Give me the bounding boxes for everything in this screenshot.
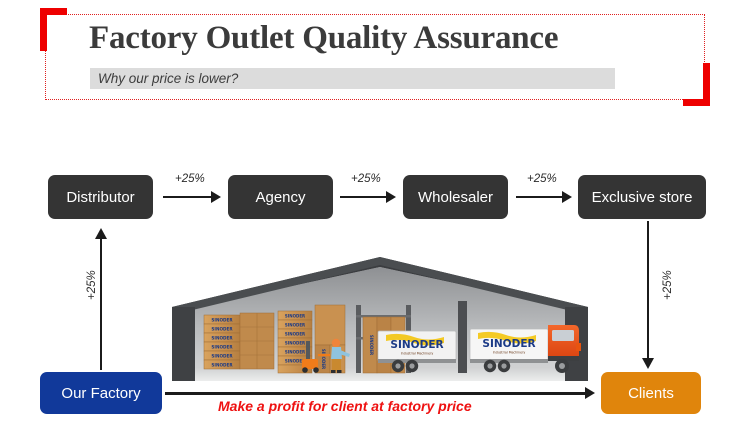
svg-text:SINODER: SINODER xyxy=(482,338,535,350)
svg-text:SINODER: SINODER xyxy=(285,332,305,337)
arrow-distributor-to-agency xyxy=(163,191,221,203)
markup-wholesaler-to-exclusive: +25% xyxy=(527,173,557,185)
page-subtitle: Why our price is lower? xyxy=(98,68,238,89)
arrow-head-down-icon xyxy=(642,358,654,369)
arrow-head-icon xyxy=(585,387,595,399)
corner-bracket-top-left-icon xyxy=(40,8,67,51)
svg-text:Industrial Machinery: Industrial Machinery xyxy=(401,352,434,356)
arrow-head-icon xyxy=(211,191,221,203)
node-wholesaler[interactable]: Wholesaler xyxy=(403,175,508,219)
node-our-factory[interactable]: Our Factory xyxy=(40,372,162,414)
svg-text:SINODER: SINODER xyxy=(390,339,443,351)
node-distributor-label: Distributor xyxy=(66,189,134,206)
svg-text:SINODER: SINODER xyxy=(369,335,374,355)
arrow-shaft xyxy=(165,392,585,395)
warehouse-illustration: SINODER SINODER SINODER SINODER SINODER … xyxy=(160,255,600,392)
node-our-factory-label: Our Factory xyxy=(61,385,140,402)
node-clients[interactable]: Clients xyxy=(601,372,701,414)
node-clients-label: Clients xyxy=(628,385,674,402)
infographic-canvas: Factory Outlet Quality Assurance Why our… xyxy=(0,0,750,446)
corner-bracket-bottom-right-icon xyxy=(683,63,710,106)
svg-text:SINODER: SINODER xyxy=(211,363,233,368)
page-title: Factory Outlet Quality Assurance xyxy=(89,20,558,57)
markup-exclusive-to-clients: +25% xyxy=(662,270,674,300)
arrow-head-up-icon xyxy=(95,228,107,239)
arrow-shaft xyxy=(163,196,211,198)
header-banner: Factory Outlet Quality Assurance Why our… xyxy=(45,14,705,100)
carton-stack-left: SINODER SINODER SINODER SINODER SINODER … xyxy=(204,313,274,369)
arrow-shaft xyxy=(647,221,649,361)
node-agency[interactable]: Agency xyxy=(228,175,333,219)
node-exclusive-store[interactable]: Exclusive store xyxy=(578,175,706,219)
markup-distributor-to-agency: +25% xyxy=(175,173,205,185)
arrow-head-icon xyxy=(562,191,572,203)
arrow-shaft xyxy=(340,196,386,198)
arrow-shaft xyxy=(516,196,562,198)
node-wholesaler-label: Wholesaler xyxy=(418,189,493,206)
arrow-shaft xyxy=(100,236,102,370)
warehouse-left-wall xyxy=(172,307,195,381)
node-exclusive-store-label: Exclusive store xyxy=(592,189,693,206)
dock-pillar xyxy=(458,301,467,373)
svg-text:SINODER: SINODER xyxy=(211,354,233,359)
node-distributor[interactable]: Distributor xyxy=(48,175,153,219)
markup-agency-to-wholesaler: +25% xyxy=(351,173,381,185)
svg-text:SINODER: SINODER xyxy=(211,345,233,350)
svg-text:SINODER: SINODER xyxy=(211,318,233,323)
svg-text:Industrial Machinery: Industrial Machinery xyxy=(493,351,526,355)
svg-text:SINODER: SINODER xyxy=(211,336,233,341)
markup-factory-to-distributor: +25% xyxy=(86,270,98,300)
svg-text:SINODER: SINODER xyxy=(285,323,305,328)
arrow-head-icon xyxy=(386,191,396,203)
svg-text:SINODER: SINODER xyxy=(285,314,305,319)
svg-text:SINODER: SINODER xyxy=(285,341,305,346)
arrow-wholesaler-to-exclusive xyxy=(516,191,572,203)
node-agency-label: Agency xyxy=(255,189,305,206)
direct-path-caption: Make a profit for client at factory pric… xyxy=(218,398,472,414)
arrow-exclusive-to-clients xyxy=(642,221,654,369)
arrow-agency-to-wholesaler xyxy=(340,191,396,203)
svg-text:SINODER: SINODER xyxy=(285,350,305,355)
svg-text:SINODER: SINODER xyxy=(321,349,326,369)
svg-text:SINODER: SINODER xyxy=(211,327,233,332)
